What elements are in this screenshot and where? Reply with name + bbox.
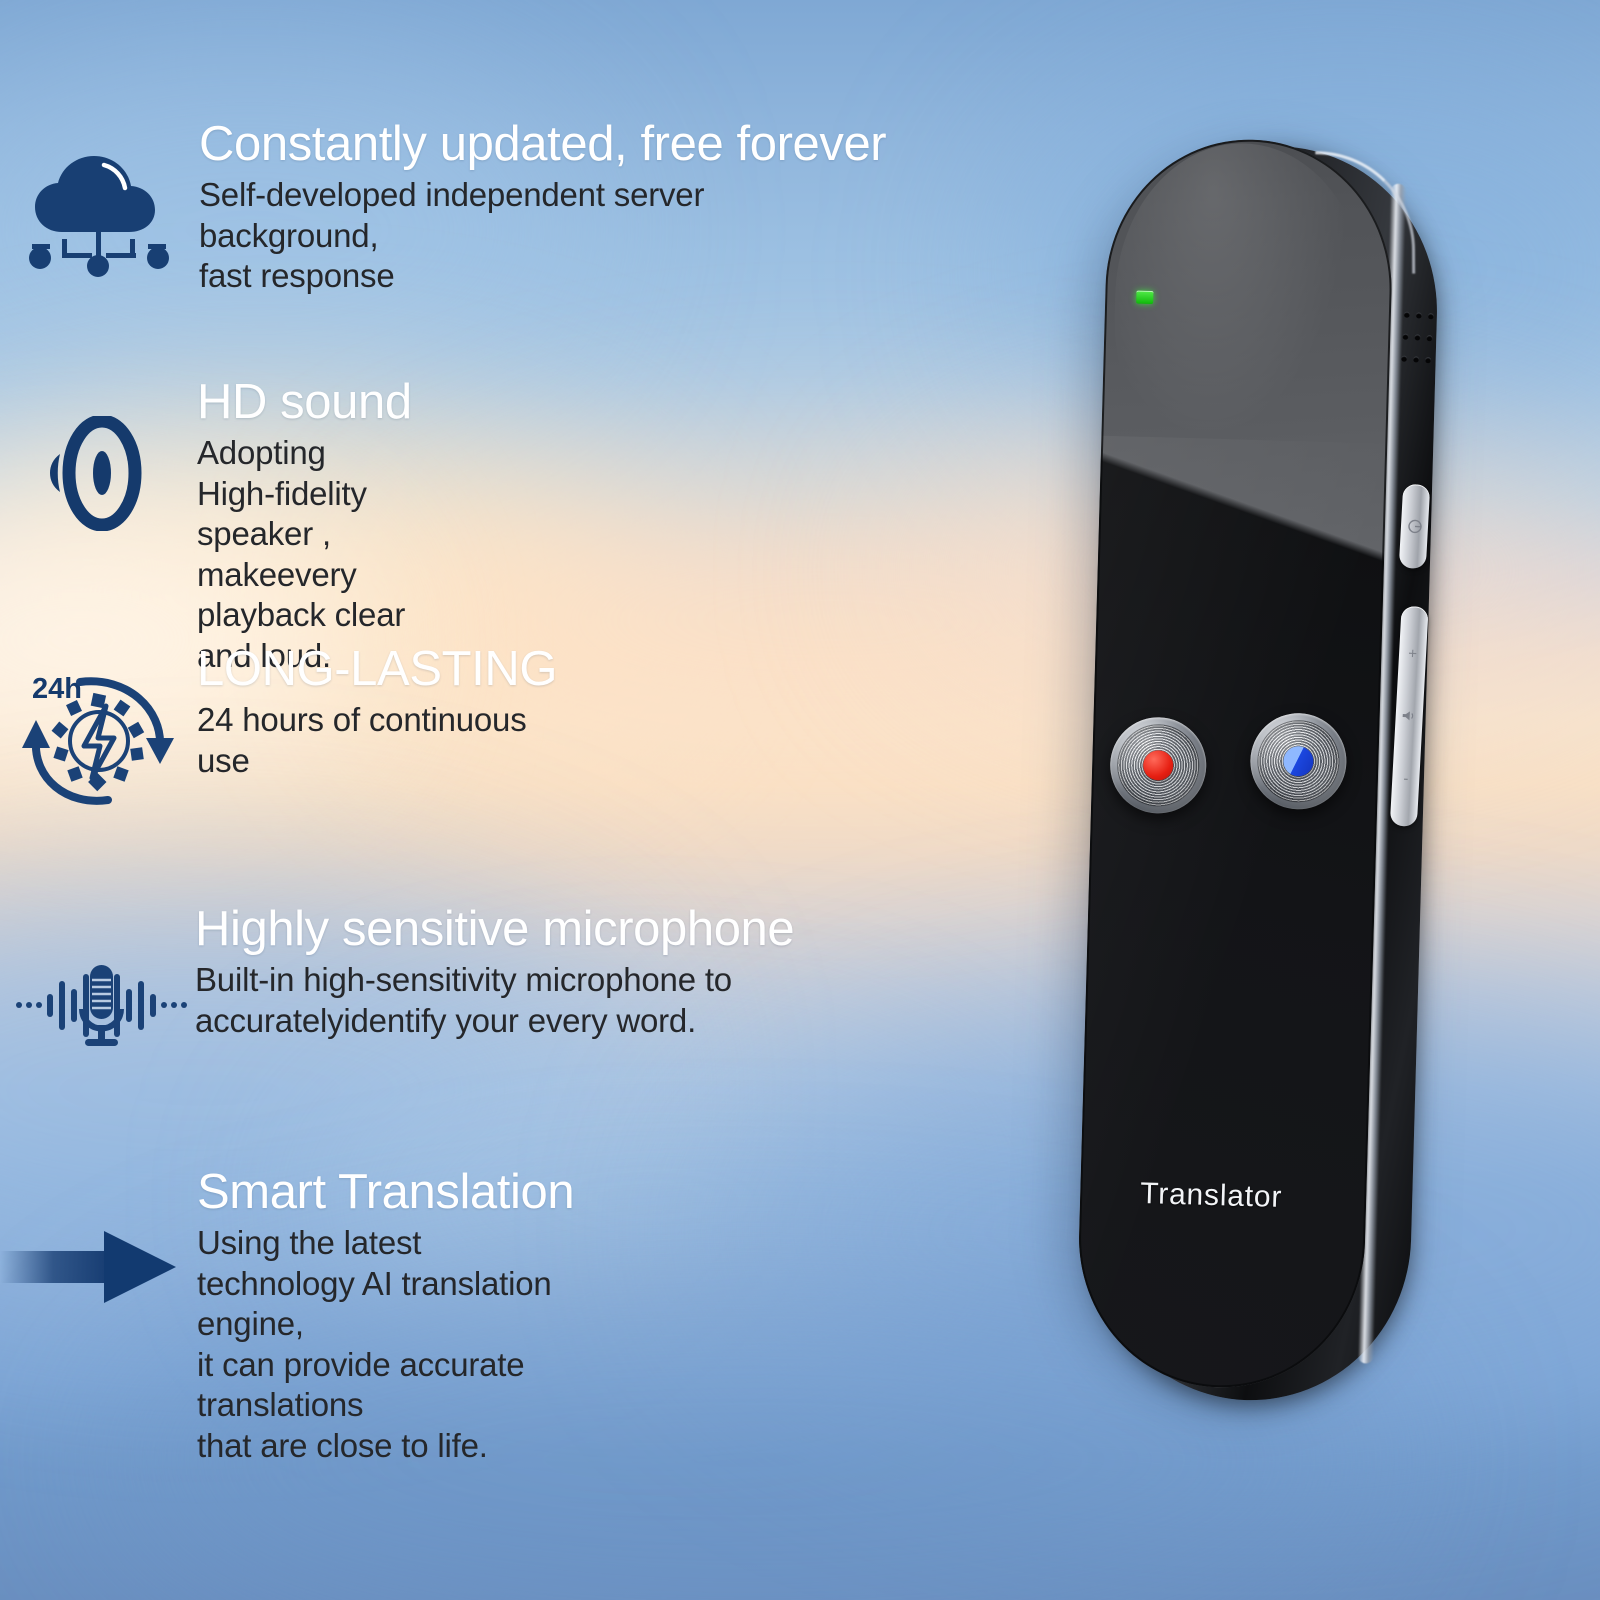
24h-battery-icon: 24h xyxy=(14,652,184,817)
feature-body: Using the latest technology AI translati… xyxy=(197,1223,574,1466)
infographic-canvas: Constantly updated, free forever Self-de… xyxy=(0,0,1600,1600)
power-icon xyxy=(1406,518,1423,535)
volume-up-label: + xyxy=(1408,646,1418,661)
feature-heading: Highly sensitive microphone xyxy=(195,905,794,955)
speaker-small-icon xyxy=(1401,709,1417,723)
feature-heading: Smart Translation xyxy=(197,1168,574,1218)
feature-body: Built-in high-sensitivity microphone to … xyxy=(195,960,794,1041)
feature-text-sound: HD sound Adopting High-fidelity speaker … xyxy=(197,378,412,676)
feature-heading: LONG-LASTING xyxy=(197,645,557,695)
speaker-icon xyxy=(36,416,151,536)
feature-text-microphone: Highly sensitive microphone Built-in hig… xyxy=(195,905,794,1041)
feature-text-battery: LONG-LASTING 24 hours of continuous use xyxy=(197,645,557,781)
speaker-holes-icon xyxy=(1400,311,1436,375)
power-button[interactable] xyxy=(1399,484,1431,569)
feature-heading: Constantly updated, free forever xyxy=(199,120,886,170)
translator-device-image: + - Translator xyxy=(1068,140,1438,1410)
green-led-indicator xyxy=(1136,291,1153,304)
feature-body: 24 hours of continuous use xyxy=(197,700,557,781)
feature-list: Constantly updated, free forever Self-de… xyxy=(0,0,1080,1600)
volume-down-label: - xyxy=(1403,771,1409,786)
feature-text-cloud: Constantly updated, free forever Self-de… xyxy=(199,120,886,297)
feature-body: Adopting High-fidelity speaker , makeeve… xyxy=(197,433,412,676)
arrow-right-icon xyxy=(0,1221,185,1316)
microphone-waveform-icon xyxy=(14,957,189,1057)
icon-24h-label: 24h xyxy=(32,673,82,705)
feature-text-translation: Smart Translation Using the latest techn… xyxy=(197,1168,574,1466)
feature-body: Self-developed independent server backgr… xyxy=(199,175,886,297)
feature-heading: HD sound xyxy=(197,378,412,428)
cloud-network-icon xyxy=(18,140,178,285)
